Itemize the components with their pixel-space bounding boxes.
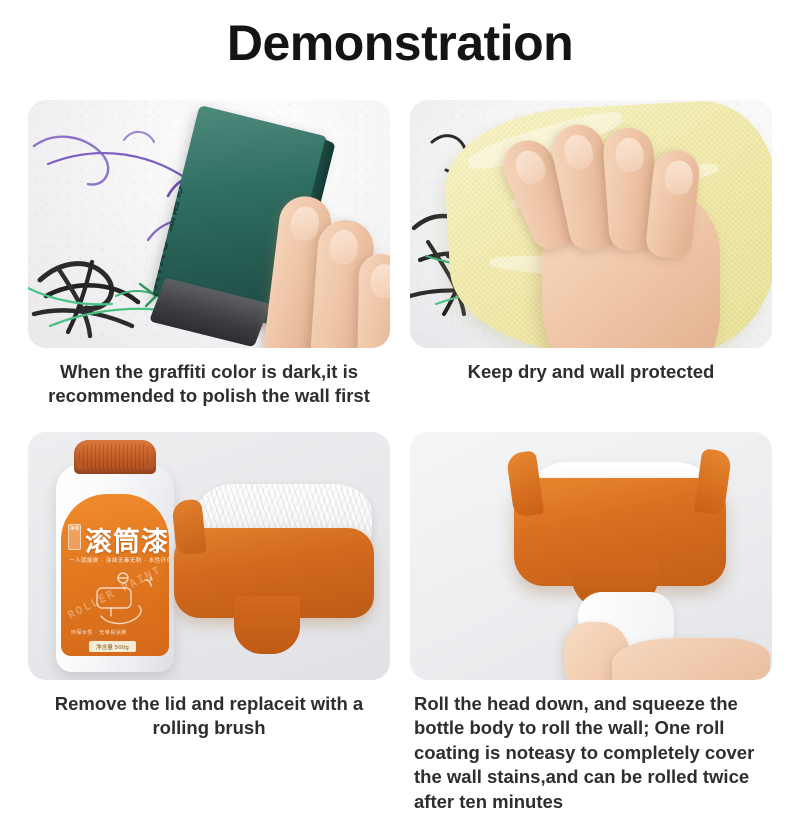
fingernail (329, 229, 359, 265)
finger (357, 254, 390, 348)
panel-caption: Remove the lid and replaceit with a roll… (28, 692, 390, 741)
bracket-arm (171, 499, 206, 556)
label-badge: 净味 (68, 524, 81, 550)
palm (612, 638, 770, 680)
panel-caption: Roll the head down, and squeeze the bott… (410, 692, 772, 814)
roller-head-assembly (160, 484, 376, 664)
hand-holding-sponge (266, 192, 390, 348)
photo-rolling-on-wall (410, 432, 772, 680)
fingernail (510, 146, 549, 188)
hand-squeezing-bottle (554, 608, 770, 680)
panel-keep-dry: Keep dry and wall protected (410, 100, 772, 430)
panel-caption: When the graffiti color is dark,it is re… (28, 360, 390, 409)
photo-bottle-and-roller: 净味 滚筒漆 一人就能刷 · 涂抹无毒无刺 · 水性环保漆 · 快干快固色 (28, 432, 390, 680)
fingernail (561, 132, 595, 171)
label-roller-illustration: ROLLER PAINT (67, 570, 165, 632)
label-subtitle: 一人就能刷 · 涂抹无毒无刺 · 水性环保漆 · 快干快固色 (69, 556, 163, 564)
panel-roll-wall: Roll the head down, and squeeze the bott… (410, 432, 772, 762)
label-footer: 环保水性 · 无味易涂刷 (71, 629, 127, 636)
label-title: 滚筒漆 (85, 520, 169, 559)
hand-wiping (502, 122, 734, 348)
panel-caption: Keep dry and wall protected (410, 360, 772, 384)
panel-replace-lid: 净味 滚筒漆 一人就能刷 · 涂抹无毒无刺 · 水性环保漆 · 快干快固色 (28, 432, 390, 762)
fingernail (614, 137, 644, 173)
fingernail (370, 264, 390, 298)
bottle-label: 净味 滚筒漆 一人就能刷 · 涂抹无毒无刺 · 水性环保漆 · 快干快固色 (61, 494, 169, 656)
page-title: Demonstration (0, 0, 800, 82)
panel-polish-wall: QATAO 细磨砂 海绵砂块 #800 When the graffiti co… (28, 100, 390, 430)
fingernail (663, 159, 694, 196)
fingernail (289, 205, 321, 242)
photo-graffiti-wall-sanding: QATAO 细磨砂 海绵砂块 #800 (28, 100, 390, 348)
roller-stem (234, 596, 300, 654)
demonstration-grid: QATAO 细磨砂 海绵砂块 #800 When the graffiti co… (0, 100, 800, 800)
photo-wiping-wall (410, 100, 772, 348)
label-weight-badge: 净含量 500g (89, 641, 136, 652)
bottle-cap (74, 440, 156, 474)
